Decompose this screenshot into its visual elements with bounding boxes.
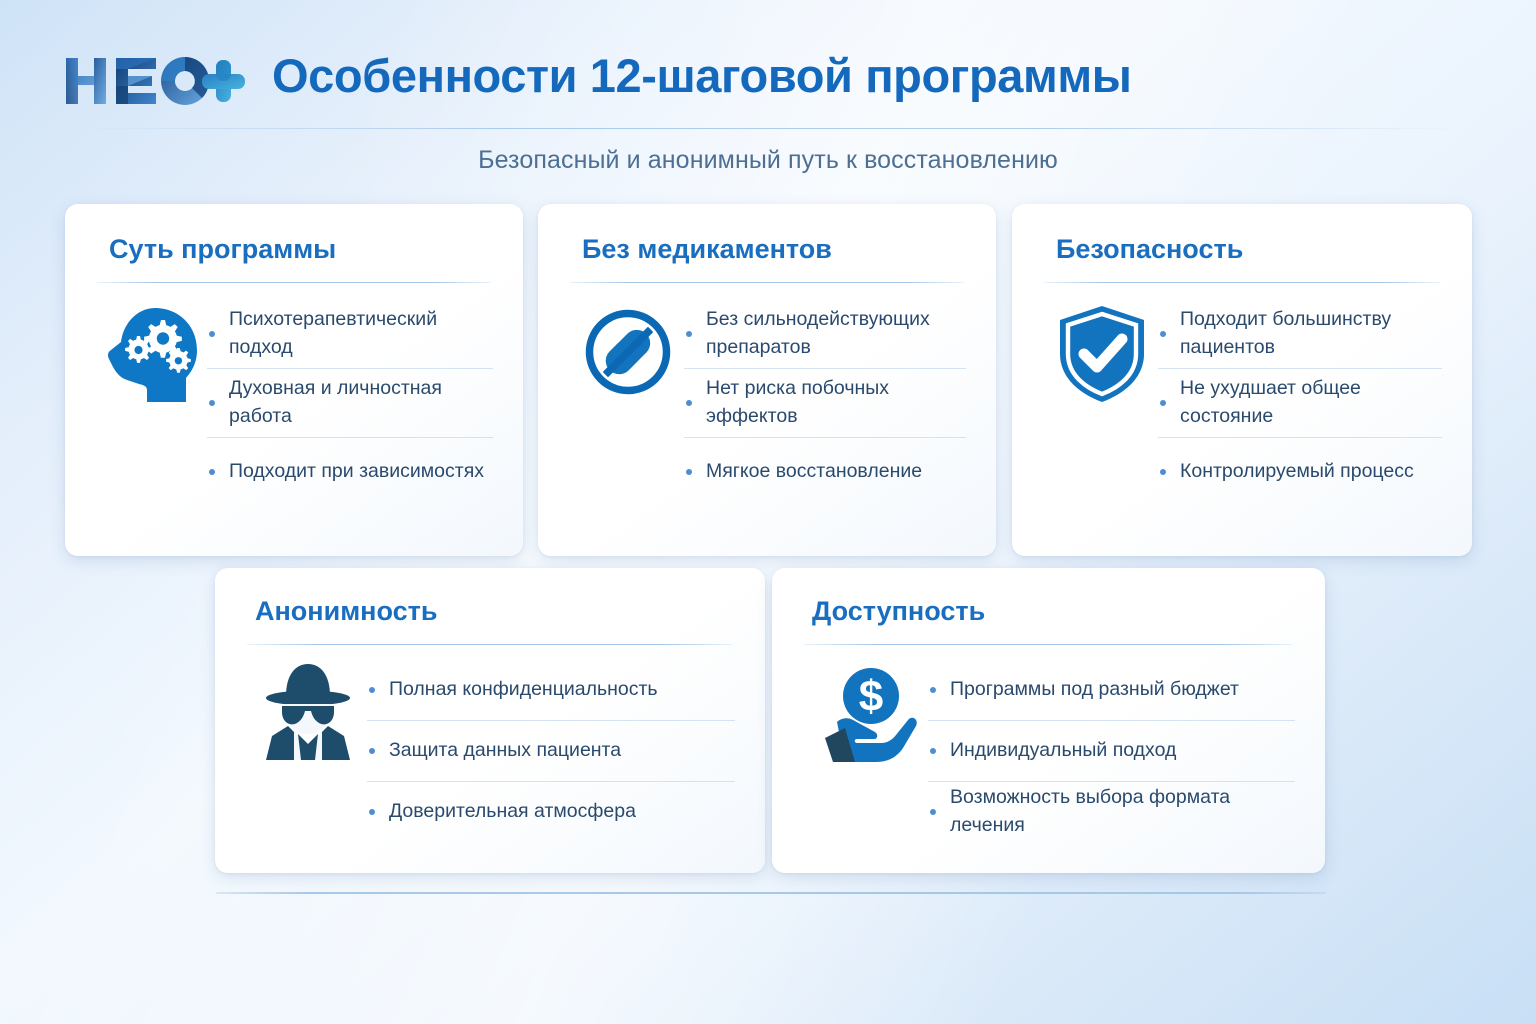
bullet-dot (1160, 331, 1166, 337)
bullet-dot (369, 809, 375, 815)
bullet-dot (369, 748, 375, 754)
bullet-dot (369, 687, 375, 693)
page-subtitle: Безопасный и анонимный путь к восстановл… (0, 146, 1536, 175)
bullet-item: Программы под разный бюджет (928, 660, 1295, 721)
card-bez-medikamentov: Без медикаментов (538, 204, 996, 556)
card-title: Доступность (812, 596, 985, 627)
card-title: Суть программы (109, 234, 336, 265)
bullet-item: Индивидуальный подход (928, 721, 1295, 782)
bullet-text: Полная конфиденциальность (389, 676, 658, 704)
card-title-divider (1044, 282, 1440, 283)
neo-plus-logo (64, 52, 254, 110)
no-pills-icon (572, 300, 684, 398)
bullet-text: Психотерапевтический подход (229, 306, 493, 361)
header: Особенности 12-шаговой программы Безопас… (0, 0, 1536, 190)
bullet-text: Нет риска побочных эффектов (706, 375, 966, 430)
card-dostupnost: Доступность $ Программы под разный бюдже… (772, 568, 1325, 873)
bullet-item: Подходит большинству пациентов (1158, 300, 1442, 369)
bullet-item: Духовная и личностная работа (207, 369, 493, 438)
bullet-item: Психотерапевтический подход (207, 300, 493, 369)
bullet-text: Подходит при зависимостях (229, 458, 484, 486)
bullet-dot (209, 331, 215, 337)
bullet-item: Защита данных пациента (367, 721, 735, 782)
card-body: Подходит большинству пациентов Не ухудша… (1012, 300, 1472, 506)
bullet-text: Подходит большинству пациентов (1180, 306, 1442, 361)
bullet-text: Защита данных пациента (389, 737, 621, 765)
bullet-dot (686, 400, 692, 406)
svg-text:$: $ (859, 672, 883, 721)
bullet-item: Доверительная атмосфера (367, 782, 735, 842)
shield-check-icon (1046, 300, 1158, 404)
bullet-item: Подходит при зависимостях (207, 438, 493, 506)
bullet-list: Подходит большинству пациентов Не ухудша… (1158, 300, 1442, 506)
bullet-text: Не ухудшает общее состояние (1180, 375, 1442, 430)
card-body: Полная конфиденциальность Защита данных … (215, 660, 765, 842)
bullet-list: Программы под разный бюджет Индивидуальн… (928, 660, 1295, 842)
bullet-dot (1160, 469, 1166, 475)
card-body: Психотерапевтический подход Духовная и л… (65, 300, 523, 506)
bullet-item: Возможность выбора формата лечения (928, 782, 1295, 842)
card-sut-programmy: Суть программы (65, 204, 523, 556)
bullet-dot (686, 469, 692, 475)
bullet-list: Психотерапевтический подход Духовная и л… (207, 300, 493, 506)
footer-divider (216, 892, 1326, 894)
bullet-item: Контролируемый процесс (1158, 438, 1442, 506)
bullet-text: Духовная и личностная работа (229, 375, 493, 430)
card-title: Без медикаментов (582, 234, 832, 265)
card-title-divider (97, 282, 491, 283)
bullet-dot (930, 748, 936, 754)
header-divider (78, 128, 1458, 129)
bullet-text: Программы под разный бюджет (950, 676, 1239, 704)
bullet-dot (930, 687, 936, 693)
bullet-text: Мягкое восстановление (706, 458, 922, 486)
bullet-list: Полная конфиденциальность Защита данных … (367, 660, 735, 842)
bullet-item: Без сильнодействующих препаратов (684, 300, 966, 369)
card-title-divider (570, 282, 964, 283)
bullet-text: Возможность выбора формата лечения (950, 784, 1295, 839)
bullet-dot (686, 331, 692, 337)
card-title: Анонимность (255, 596, 437, 627)
bullet-dot (1160, 400, 1166, 406)
bullet-text: Контролируемый процесс (1180, 458, 1414, 486)
bullet-dot (209, 469, 215, 475)
bullet-dot (930, 809, 936, 815)
bullet-text: Доверительная атмосфера (389, 798, 636, 826)
bullet-list: Без сильнодействующих препаратов Нет рис… (684, 300, 966, 506)
hand-money-icon: $ (806, 660, 928, 766)
card-anonimnost: Анонимность (215, 568, 765, 873)
bullet-item: Мягкое восстановление (684, 438, 966, 506)
head-gears-icon (99, 300, 207, 404)
bullet-item: Не ухудшает общее состояние (1158, 369, 1442, 438)
page-title: Особенности 12-шаговой программы (272, 48, 1132, 103)
card-bezopasnost: Безопасность Подходит большинству пациен… (1012, 204, 1472, 556)
bullet-item: Полная конфиденциальность (367, 660, 735, 721)
bullet-item: Нет риска побочных эффектов (684, 369, 966, 438)
bullet-text: Индивидуальный подход (950, 737, 1176, 765)
card-title: Безопасность (1056, 234, 1243, 265)
card-title-divider (247, 644, 733, 645)
card-body: $ Программы под разный бюджет Индивидуал… (772, 660, 1325, 842)
bullet-dot (209, 400, 215, 406)
card-title-divider (804, 644, 1293, 645)
card-body: Без сильнодействующих препаратов Нет рис… (538, 300, 996, 506)
incognito-icon (249, 660, 367, 764)
infographic-page: Особенности 12-шаговой программы Безопас… (0, 0, 1536, 1024)
bullet-text: Без сильнодействующих препаратов (706, 306, 966, 361)
